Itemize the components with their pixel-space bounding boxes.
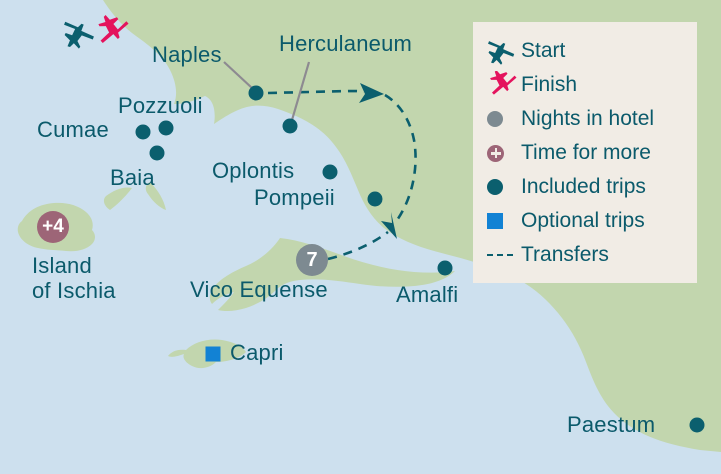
legend-included-trips: Included trips — [487, 170, 697, 204]
label-island-of-ischia: Island of Ischia — [32, 254, 116, 303]
plus-circle-icon — [487, 145, 521, 162]
label-herculaneum: Herculaneum — [279, 32, 412, 56]
badge-more-value: +4 — [42, 216, 64, 238]
legend-time-for-more-label: Time for more — [521, 141, 651, 165]
marker-baia[interactable] — [150, 146, 165, 161]
marker-capri[interactable] — [206, 347, 221, 362]
marker-naples[interactable] — [249, 86, 264, 101]
legend-finish-label: Finish — [521, 73, 577, 97]
legend-start: Start — [487, 34, 697, 68]
marker-amalfi[interactable] — [438, 261, 453, 276]
legend-time-for-more: Time for more — [487, 136, 697, 170]
label-vico-equense: Vico Equense — [190, 278, 328, 302]
label-amalfi: Amalfi — [396, 283, 458, 307]
legend-start-label: Start — [521, 39, 565, 63]
label-cumae: Cumae — [37, 118, 109, 142]
tour-map: 7 +4 Naples Pozzuoli Cumae Baia Herculan… — [0, 0, 721, 474]
legend-transfers-label: Transfers — [521, 243, 609, 267]
legend-transfers: Transfers — [487, 238, 697, 272]
legend-nights-label: Nights in hotel — [521, 107, 654, 131]
dashed-line-icon — [487, 254, 521, 256]
legend-finish: Finish — [487, 68, 697, 102]
finish-plane-icon — [487, 71, 521, 99]
legend-included-trips-label: Included trips — [521, 175, 646, 199]
badge-time-for-more[interactable]: +4 — [37, 211, 69, 243]
marker-cumae[interactable] — [136, 125, 151, 140]
label-naples: Naples — [152, 43, 222, 67]
teal-dot-icon — [487, 179, 521, 195]
label-pompeii: Pompeii — [254, 186, 335, 210]
label-baia: Baia — [110, 166, 155, 190]
badge-nights-value: 7 — [306, 249, 317, 272]
blue-square-icon — [487, 213, 521, 229]
legend-optional-trips-label: Optional trips — [521, 209, 645, 233]
marker-pozzuoli[interactable] — [159, 121, 174, 136]
marker-oplontis[interactable] — [323, 165, 338, 180]
legend-nights: Nights in hotel — [487, 102, 697, 136]
legend-optional-trips: Optional trips — [487, 204, 697, 238]
label-pozzuoli: Pozzuoli — [118, 94, 203, 118]
map-legend: Start Finish Nights in hotel Time fo — [473, 22, 697, 283]
badge-nights-in-hotel[interactable]: 7 — [296, 244, 328, 276]
gray-dot-icon — [487, 111, 521, 127]
marker-paestum[interactable] — [690, 418, 705, 433]
label-oplontis: Oplontis — [212, 159, 294, 183]
start-plane-icon — [487, 37, 521, 65]
label-capri: Capri — [230, 341, 284, 365]
label-paestum: Paestum — [567, 413, 655, 437]
marker-pompeii[interactable] — [368, 192, 383, 207]
marker-herculaneum[interactable] — [283, 119, 298, 134]
